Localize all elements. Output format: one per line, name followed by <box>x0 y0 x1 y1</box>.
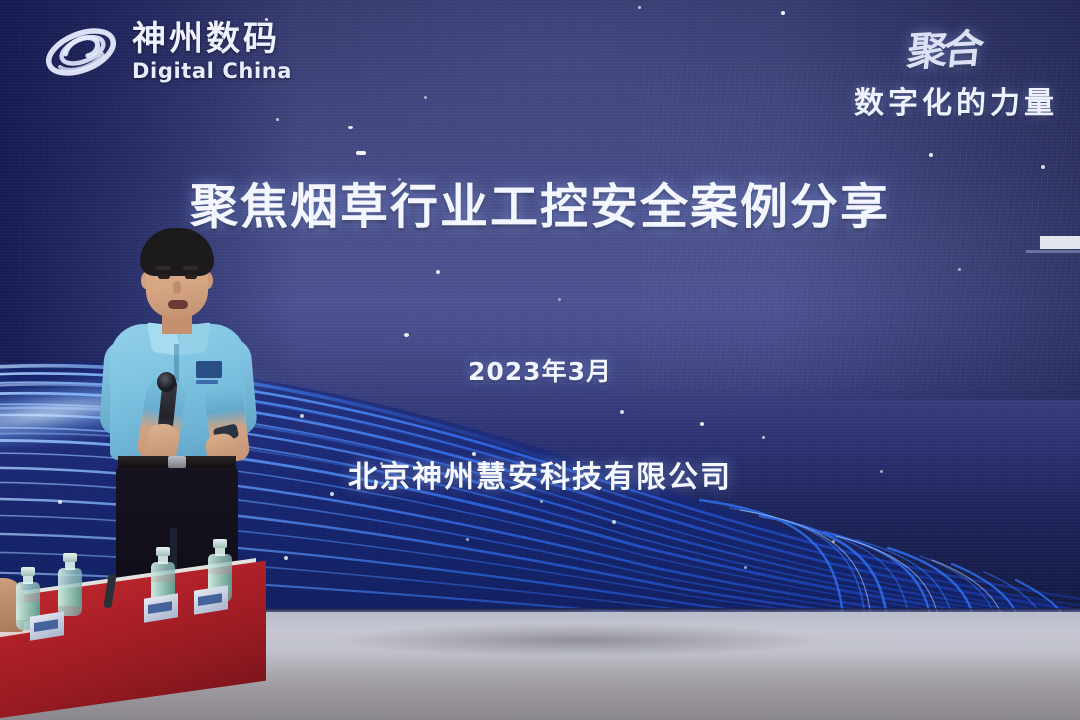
name-card-text-block <box>34 619 58 632</box>
stage-floor-shadow <box>230 620 930 660</box>
name-card-text-block <box>148 601 172 614</box>
presenter-eye-left <box>158 274 170 279</box>
brand-name-en: Digital China <box>132 61 292 82</box>
water-bottle <box>58 554 82 616</box>
presenter-hand-left <box>148 424 178 458</box>
shirt-chest-logo <box>196 361 222 378</box>
slogan-brush-text: 聚合 <box>905 16 984 78</box>
swoosh-spiral-icon <box>42 18 120 86</box>
conference-stage-photo: 神州数码 Digital China 聚合 数字化的力量 聚焦烟草行业工控安全案… <box>0 0 1080 720</box>
bottle-cap <box>63 553 77 562</box>
brand-logo: 神州数码 Digital China <box>42 18 292 86</box>
bottle-cap <box>21 567 35 576</box>
bottle-cap <box>156 547 170 556</box>
screen-edge-marker-line <box>1026 250 1080 253</box>
event-slogan: 聚合 数字化的力量 <box>854 18 1058 122</box>
presenter-nose <box>173 281 181 294</box>
screen-edge-marker <box>1040 236 1080 249</box>
presenter-hair <box>140 228 214 276</box>
brand-name-cn: 神州数码 <box>132 22 292 56</box>
brand-wordmark: 神州数码 Digital China <box>132 22 292 82</box>
bottle-label <box>58 588 82 606</box>
presenter-mouth <box>168 300 188 309</box>
shirt-chest-logo-underline <box>196 380 218 384</box>
foreground-table <box>0 550 266 720</box>
bottle-cap <box>213 539 227 548</box>
presenter-eye-right <box>185 274 197 279</box>
presenter-belt-buckle <box>168 456 186 468</box>
slogan-subtitle: 数字化的力量 <box>854 78 1058 122</box>
name-card-text-block <box>198 593 222 606</box>
slide-title: 聚焦烟草行业工控安全案例分享 <box>0 181 1080 235</box>
